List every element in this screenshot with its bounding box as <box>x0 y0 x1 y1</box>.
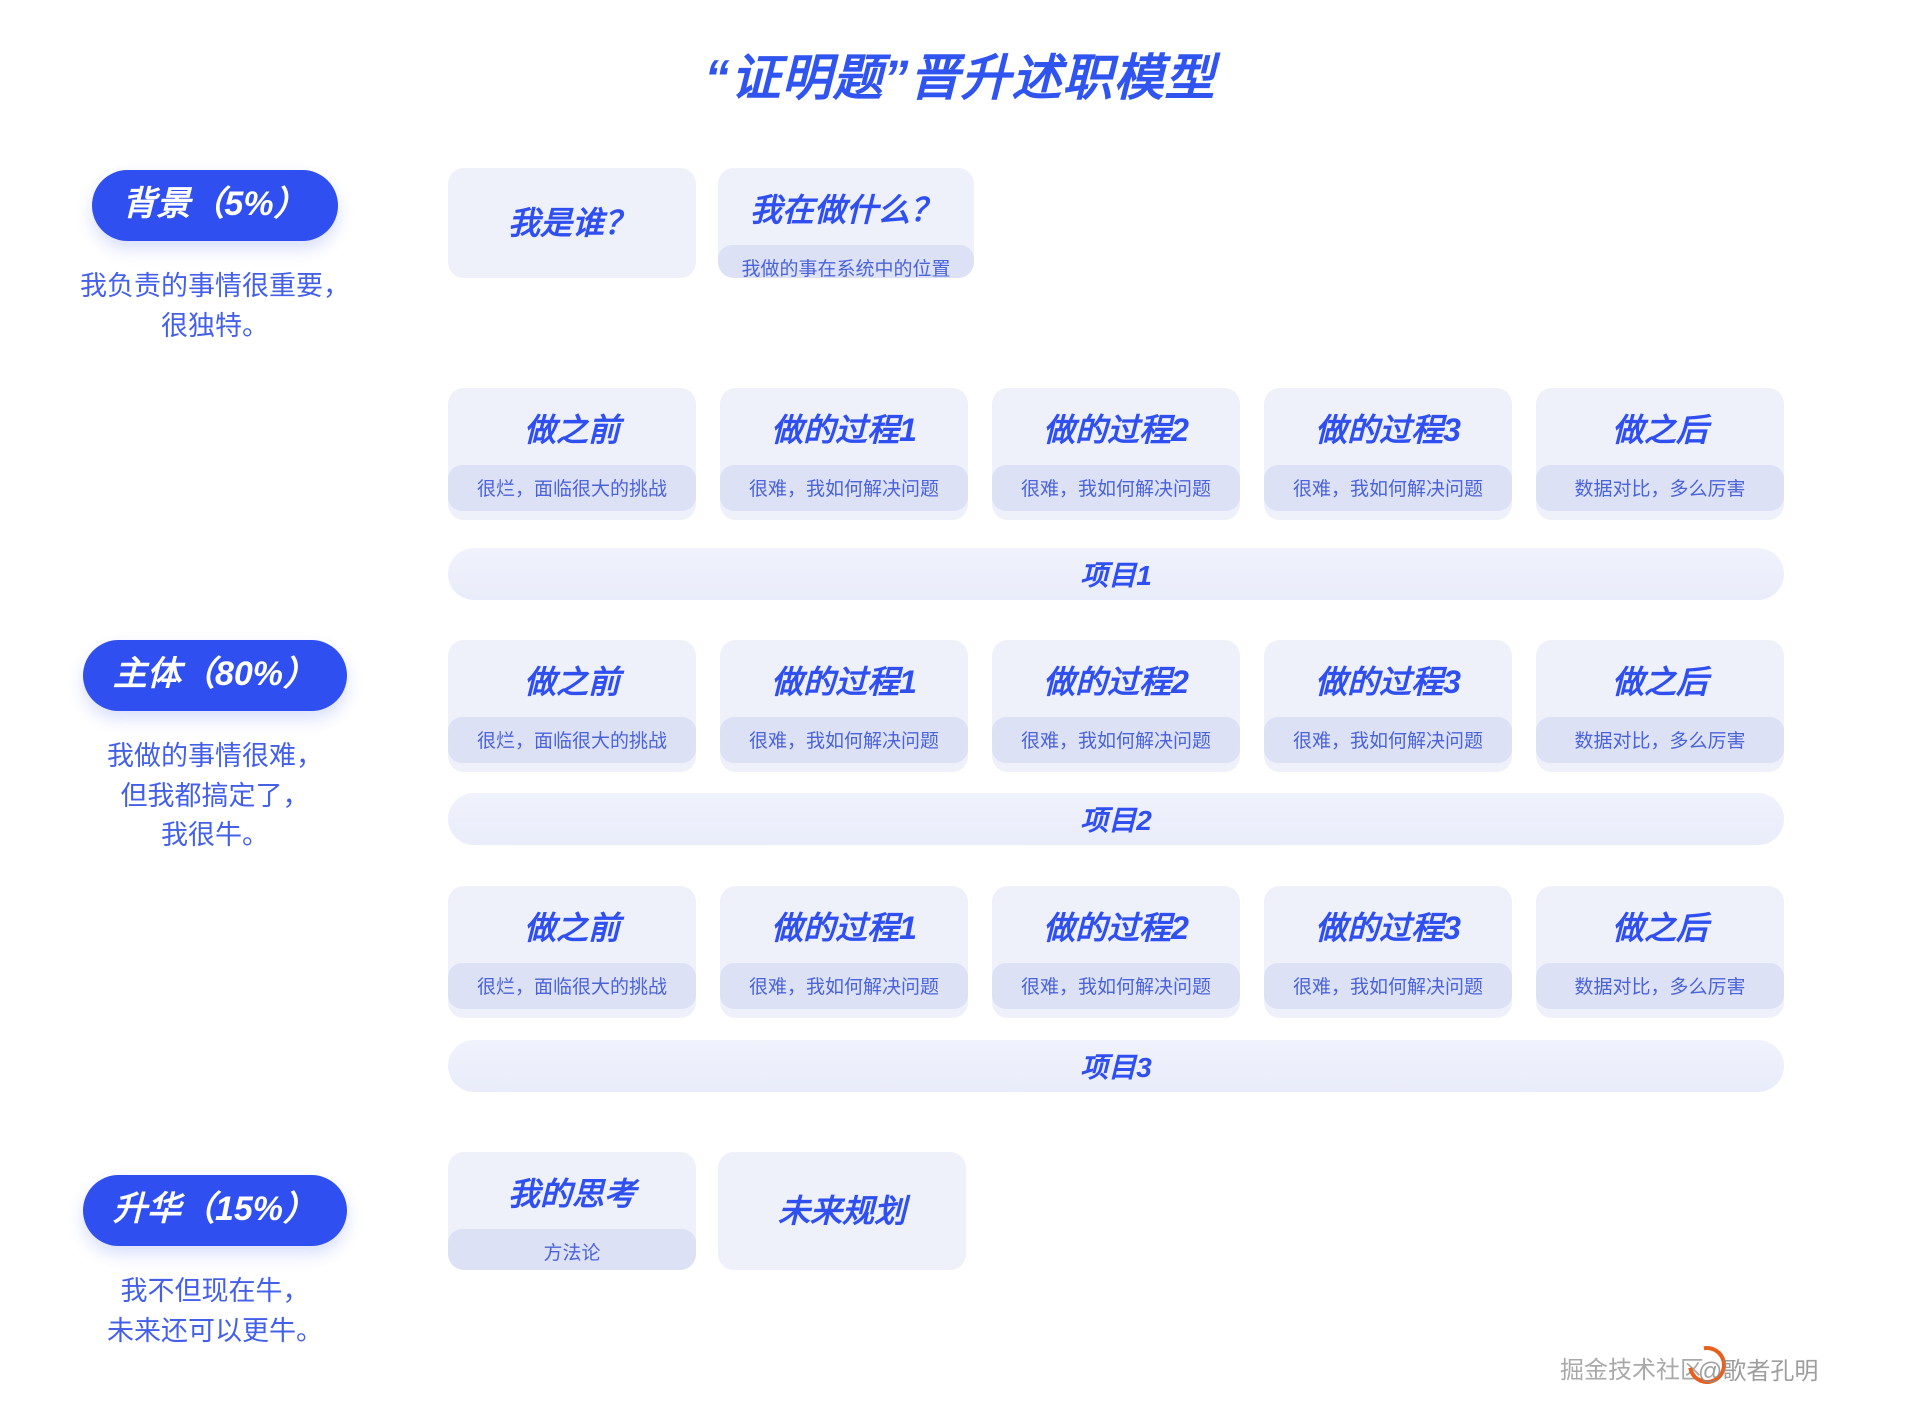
card-p1-before[interactable]: 做之前 很烂，面临很大的挑战 <box>448 388 696 520</box>
card-p3-before-title: 做之前 <box>448 886 696 947</box>
card-future-plan[interactable]: 未来规划 <box>718 1152 966 1270</box>
project-bar-3[interactable]: 项目3 <box>448 1040 1784 1092</box>
card-p3-step1-sub: 很难，我如何解决问题 <box>720 963 968 1009</box>
card-p1-step3-title: 做的过程3 <box>1264 388 1512 449</box>
card-p1-step3-sub: 很难，我如何解决问题 <box>1264 465 1512 511</box>
card-p3-after[interactable]: 做之后 数据对比，多么厉害 <box>1536 886 1784 1018</box>
card-my-thoughts-title: 我的思考 <box>448 1152 696 1213</box>
card-p3-step2[interactable]: 做的过程2 很难，我如何解决问题 <box>992 886 1240 1018</box>
card-p3-step3-sub: 很难，我如何解决问题 <box>1264 963 1512 1009</box>
section-pill-summary[interactable]: 升华（15%） <box>83 1175 347 1246</box>
card-p2-after[interactable]: 做之后 数据对比，多么厉害 <box>1536 640 1784 772</box>
card-p2-after-title: 做之后 <box>1536 640 1784 701</box>
card-p1-step2-sub: 很难，我如何解决问题 <box>992 465 1240 511</box>
section-rail-summary: 升华（15%） 我不但现在牛， 未来还可以更牛。 <box>0 1175 430 1351</box>
watermark-site-name: 掘金技术社区 <box>1560 1350 1704 1385</box>
card-p3-after-sub: 数据对比，多么厉害 <box>1536 963 1784 1009</box>
card-p3-step1[interactable]: 做的过程1 很难，我如何解决问题 <box>720 886 968 1018</box>
card-p2-step3[interactable]: 做的过程3 很难，我如何解决问题 <box>1264 640 1512 772</box>
card-what-am-i-doing-sub: 我做的事在系统中的位置 <box>718 245 974 278</box>
page-title: “证明题”晋升述职模型 <box>0 38 1920 110</box>
card-p2-before-sub: 很烂，面临很大的挑战 <box>448 717 696 763</box>
section-rail-background: 背景（5%） 我负责的事情很重要， 很独特。 <box>0 170 430 346</box>
section-pill-background[interactable]: 背景（5%） <box>92 170 337 241</box>
card-p1-after-sub: 数据对比，多么厉害 <box>1536 465 1784 511</box>
card-p3-step2-title: 做的过程2 <box>992 886 1240 947</box>
card-p1-before-sub: 很烂，面临很大的挑战 <box>448 465 696 511</box>
card-p3-after-title: 做之后 <box>1536 886 1784 947</box>
card-p2-after-sub: 数据对比，多么厉害 <box>1536 717 1784 763</box>
card-p1-after[interactable]: 做之后 数据对比，多么厉害 <box>1536 388 1784 520</box>
card-p2-before-title: 做之前 <box>448 640 696 701</box>
card-p3-step1-title: 做的过程1 <box>720 886 968 947</box>
card-who-am-i-title: 我是谁？ <box>508 205 636 242</box>
card-p1-step1[interactable]: 做的过程1 很难，我如何解决问题 <box>720 388 968 520</box>
project-bar-1[interactable]: 项目1 <box>448 548 1784 600</box>
card-my-thoughts-sub: 方法论 <box>448 1229 696 1270</box>
watermark-author: @歌者孔明 <box>1698 1351 1818 1386</box>
card-p1-step1-title: 做的过程1 <box>720 388 968 449</box>
project-bar-2[interactable]: 项目2 <box>448 793 1784 845</box>
card-p1-step3[interactable]: 做的过程3 很难，我如何解决问题 <box>1264 388 1512 520</box>
card-p1-step1-sub: 很难，我如何解决问题 <box>720 465 968 511</box>
card-p1-step2[interactable]: 做的过程2 很难，我如何解决问题 <box>992 388 1240 520</box>
section-rail-main: 主体（80%） 我做的事情很难， 但我都搞定了， 我很牛。 <box>0 640 430 855</box>
card-p2-step1-title: 做的过程1 <box>720 640 968 701</box>
card-p2-step3-title: 做的过程3 <box>1264 640 1512 701</box>
card-p1-before-title: 做之前 <box>448 388 696 449</box>
card-p2-step1[interactable]: 做的过程1 很难，我如何解决问题 <box>720 640 968 772</box>
card-p3-step3[interactable]: 做的过程3 很难，我如何解决问题 <box>1264 886 1512 1018</box>
card-what-am-i-doing[interactable]: 我在做什么？ 我做的事在系统中的位置 <box>718 168 974 278</box>
section-desc-background: 我负责的事情很重要， 很独特。 <box>0 267 430 345</box>
card-p3-before[interactable]: 做之前 很烂，面临很大的挑战 <box>448 886 696 1018</box>
card-who-am-i[interactable]: 我是谁？ <box>448 168 696 278</box>
card-p1-step2-title: 做的过程2 <box>992 388 1240 449</box>
watermark: 掘金技术社区 @歌者孔明 <box>1560 1344 1900 1388</box>
card-p3-step2-sub: 很难，我如何解决问题 <box>992 963 1240 1009</box>
section-pill-main[interactable]: 主体（80%） <box>83 640 347 711</box>
card-p2-step3-sub: 很难，我如何解决问题 <box>1264 717 1512 763</box>
card-p3-step3-title: 做的过程3 <box>1264 886 1512 947</box>
card-p2-step2[interactable]: 做的过程2 很难，我如何解决问题 <box>992 640 1240 772</box>
card-p2-before[interactable]: 做之前 很烂，面临很大的挑战 <box>448 640 696 772</box>
card-p1-after-title: 做之后 <box>1536 388 1784 449</box>
card-my-thoughts[interactable]: 我的思考 方法论 <box>448 1152 696 1270</box>
slide-canvas: “证明题”晋升述职模型 背景（5%） 我负责的事情很重要， 很独特。 我是谁？ … <box>0 0 1920 1412</box>
card-future-plan-title: 未来规划 <box>778 1193 906 1230</box>
card-p3-before-sub: 很烂，面临很大的挑战 <box>448 963 696 1009</box>
section-desc-main: 我做的事情很难， 但我都搞定了， 我很牛。 <box>0 737 430 854</box>
card-what-am-i-doing-title: 我在做什么？ <box>718 168 974 229</box>
card-p2-step1-sub: 很难，我如何解决问题 <box>720 717 968 763</box>
section-desc-summary: 我不但现在牛， 未来还可以更牛。 <box>0 1272 430 1350</box>
card-p2-step2-title: 做的过程2 <box>992 640 1240 701</box>
card-p2-step2-sub: 很难，我如何解决问题 <box>992 717 1240 763</box>
